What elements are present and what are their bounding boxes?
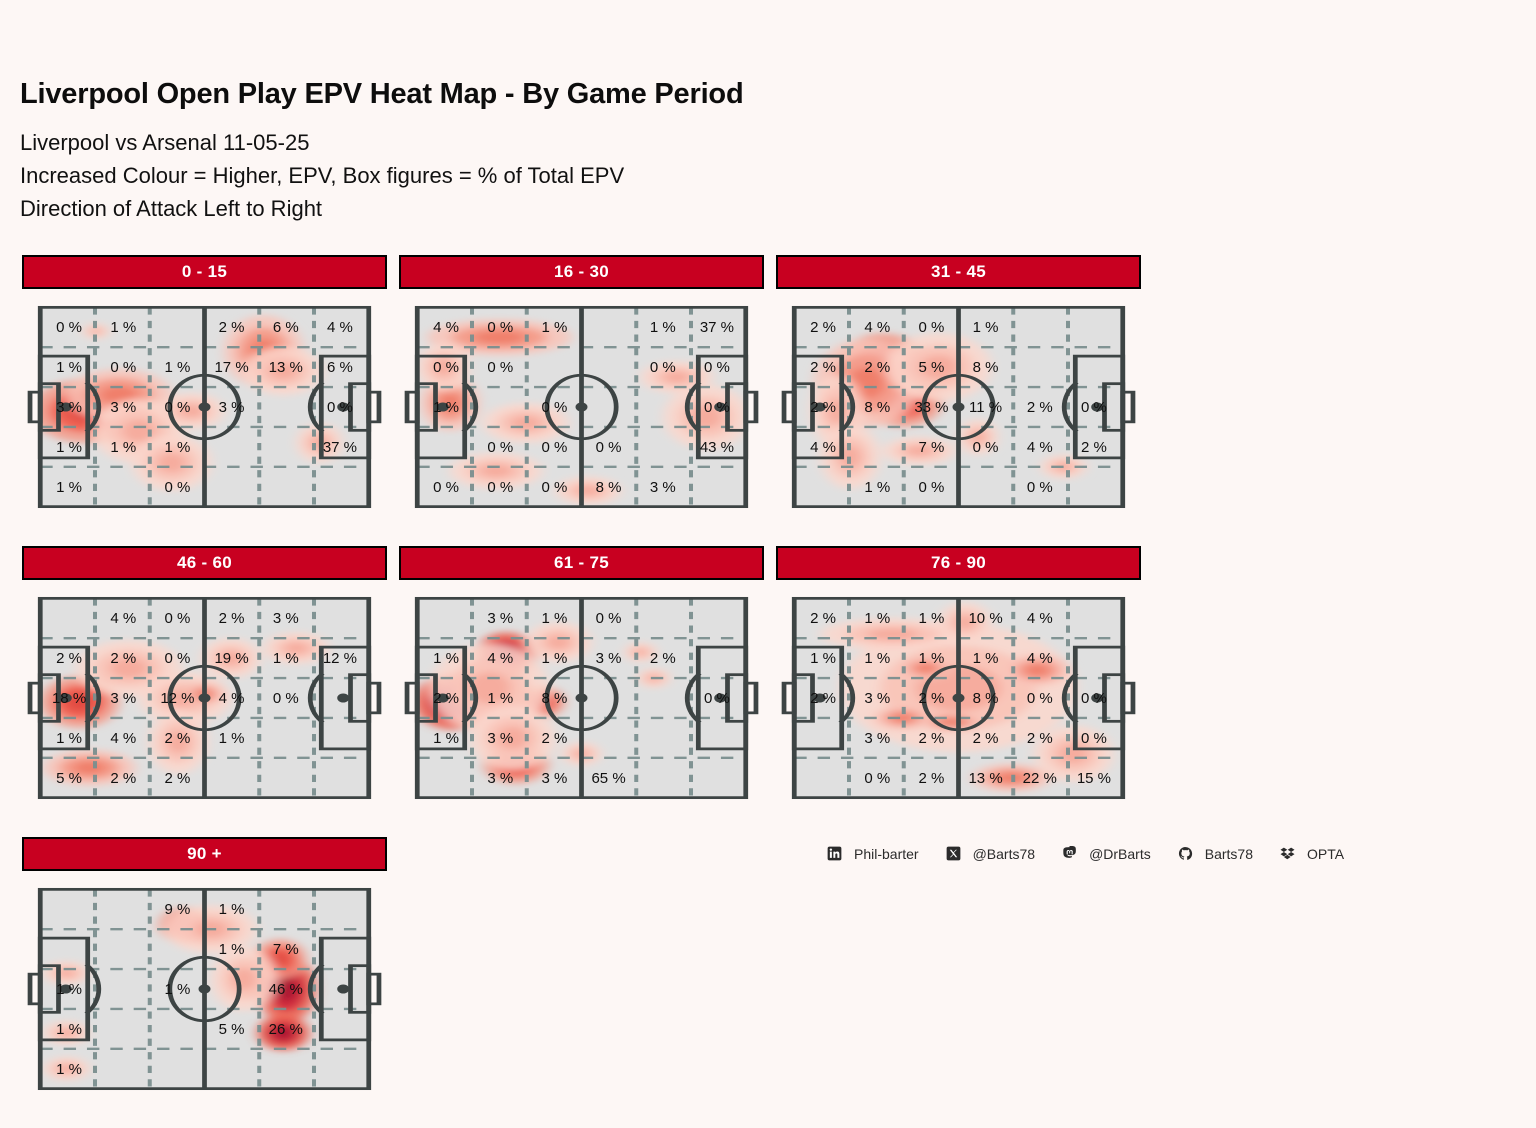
credit-item[interactable]: OPTA — [1279, 845, 1344, 862]
x-twitter-icon[interactable] — [945, 845, 962, 862]
heatmap-panel: 76 - 902 %1 %1 %10 %4 %1 %1 %1 %1 %4 %2 … — [776, 546, 1153, 804]
pitch-container: 4 %0 %1 %1 %37 %0 %0 %0 %0 %1 %0 %0 %0 %… — [399, 301, 764, 513]
panel-period-banner: 90 + — [22, 837, 387, 871]
subtitle-legend: Increased Colour = Higher, EPV, Box figu… — [20, 163, 743, 189]
heatmap-panel: 0 - 150 %1 %2 %6 %4 %1 %0 %1 %17 %13 %6 … — [22, 255, 399, 513]
github-icon[interactable] — [1177, 845, 1194, 862]
panel-period-label: 16 - 30 — [554, 262, 609, 282]
pitch-container: 2 %1 %1 %10 %4 %1 %1 %1 %1 %4 %2 %3 %2 %… — [776, 592, 1141, 804]
panel-period-banner: 16 - 30 — [399, 255, 764, 289]
chart-header: Liverpool Open Play EPV Heat Map - By Ga… — [20, 78, 743, 222]
heatmap-panel: 46 - 604 %0 %2 %3 %2 %2 %0 %19 %1 %12 %1… — [22, 546, 399, 804]
credit-label: Barts78 — [1205, 846, 1253, 862]
pitch-diagram — [22, 883, 387, 1095]
pitch-container: 2 %4 %0 %1 %2 %2 %5 %8 %2 %8 %33 %11 %2 … — [776, 301, 1141, 513]
panel-period-banner: 76 - 90 — [776, 546, 1141, 580]
credit-label: @DrBarts — [1089, 846, 1151, 862]
credit-item[interactable]: Phil-barter — [826, 845, 919, 862]
subtitle-matchup: Liverpool vs Arsenal 11-05-25 — [20, 130, 743, 156]
heatmap-panel-grid: 0 - 150 %1 %2 %6 %4 %1 %0 %1 %17 %13 %6 … — [22, 255, 1522, 1128]
pitch-diagram — [22, 592, 387, 804]
credit-item[interactable]: @DrBarts — [1061, 845, 1151, 862]
pitch-diagram — [399, 301, 764, 513]
heatmap-panel: 16 - 304 %0 %1 %1 %37 %0 %0 %0 %0 %1 %0 … — [399, 255, 776, 513]
subtitle-direction: Direction of Attack Left to Right — [20, 196, 743, 222]
heatmap-panel: 31 - 452 %4 %0 %1 %2 %2 %5 %8 %2 %8 %33 … — [776, 255, 1153, 513]
panel-period-label: 90 + — [187, 844, 222, 864]
credit-item[interactable]: Barts78 — [1177, 845, 1253, 862]
panel-period-label: 61 - 75 — [554, 553, 609, 573]
credit-item[interactable]: @Barts78 — [945, 845, 1035, 862]
panel-period-label: 31 - 45 — [931, 262, 986, 282]
pitch-diagram — [776, 592, 1141, 804]
panel-period-banner: 61 - 75 — [399, 546, 764, 580]
credit-label: @Barts78 — [973, 846, 1035, 862]
panel-period-banner: 0 - 15 — [22, 255, 387, 289]
credit-label: OPTA — [1307, 846, 1344, 862]
panel-period-banner: 46 - 60 — [22, 546, 387, 580]
pitch-diagram — [776, 301, 1141, 513]
panel-period-label: 0 - 15 — [182, 262, 227, 282]
panel-period-label: 46 - 60 — [177, 553, 232, 573]
page-title: Liverpool Open Play EPV Heat Map - By Ga… — [20, 78, 743, 111]
pitch-container: 4 %0 %2 %3 %2 %2 %0 %19 %1 %12 %18 %3 %1… — [22, 592, 387, 804]
footer-credits: Phil-barter@Barts78@DrBartsBarts78OPTA — [826, 845, 1370, 862]
mastodon-icon[interactable] — [1061, 845, 1078, 862]
dropbox-icon[interactable] — [1279, 845, 1296, 862]
pitch-container: 3 %1 %0 %1 %4 %1 %3 %2 %2 %1 %8 %0 %1 %3… — [399, 592, 764, 804]
pitch-diagram — [22, 301, 387, 513]
credit-label: Phil-barter — [854, 846, 919, 862]
linkedin-icon[interactable] — [826, 845, 843, 862]
heatmap-panel: 61 - 753 %1 %0 %1 %4 %1 %3 %2 %2 %1 %8 %… — [399, 546, 776, 804]
pitch-diagram — [399, 592, 764, 804]
panel-period-label: 76 - 90 — [931, 553, 986, 573]
panel-period-banner: 31 - 45 — [776, 255, 1141, 289]
pitch-container: 9 %1 %1 %7 %1 %1 %46 %1 %5 %26 %1 % — [22, 883, 387, 1095]
heatmap-panel: 90 +9 %1 %1 %7 %1 %1 %46 %1 %5 %26 %1 % — [22, 837, 399, 1095]
pitch-container: 0 %1 %2 %6 %4 %1 %0 %1 %17 %13 %6 %3 %3 … — [22, 301, 387, 513]
